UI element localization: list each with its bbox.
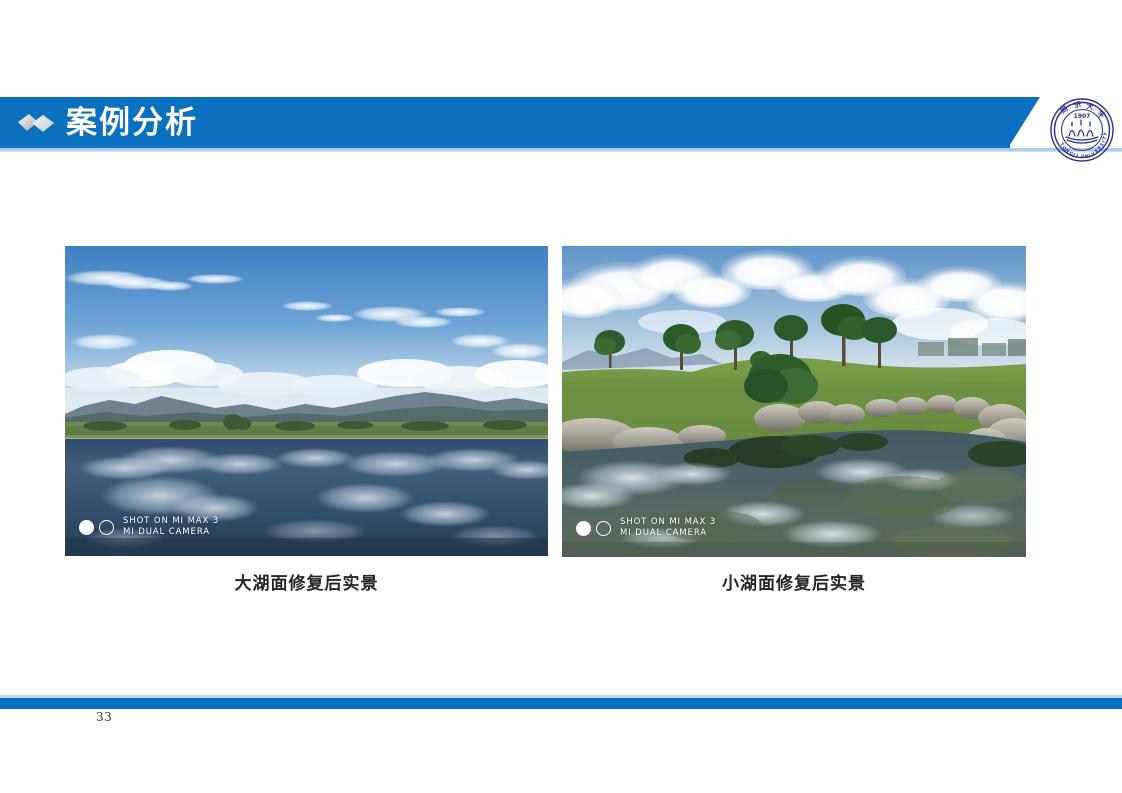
banner-underline-inner — [0, 151, 1122, 152]
figure-image-left: SHOT ON MI MAX 3 MI DUAL CAMERA — [65, 246, 548, 556]
figure-caption-left: 大湖面修复后实景 — [65, 570, 548, 598]
slide-canvas: 案例分析 同 济 大 学 1907 — [0, 0, 1122, 793]
svg-text:济: 济 — [1073, 99, 1083, 110]
slide-title: 案例分析 — [66, 102, 198, 144]
tongji-university-logo-icon: 同 济 大 学 1907 T O N G J — [1048, 96, 1116, 164]
figure-caption-right: 小湖面修复后实景 — [562, 570, 1026, 598]
banner-wedge-shape — [1008, 97, 1040, 148]
svg-text:学: 学 — [1096, 108, 1107, 119]
svg-text:大: 大 — [1086, 101, 1095, 111]
figure-image-right: SHOT ON MI MAX 3 MI DUAL CAMERA — [562, 246, 1026, 557]
page-number: 33 — [96, 710, 112, 724]
diamond-bullet-icon — [18, 113, 54, 133]
footer-bar — [0, 698, 1122, 709]
svg-text:I: I — [1076, 153, 1079, 159]
svg-text:1907: 1907 — [1074, 113, 1091, 120]
